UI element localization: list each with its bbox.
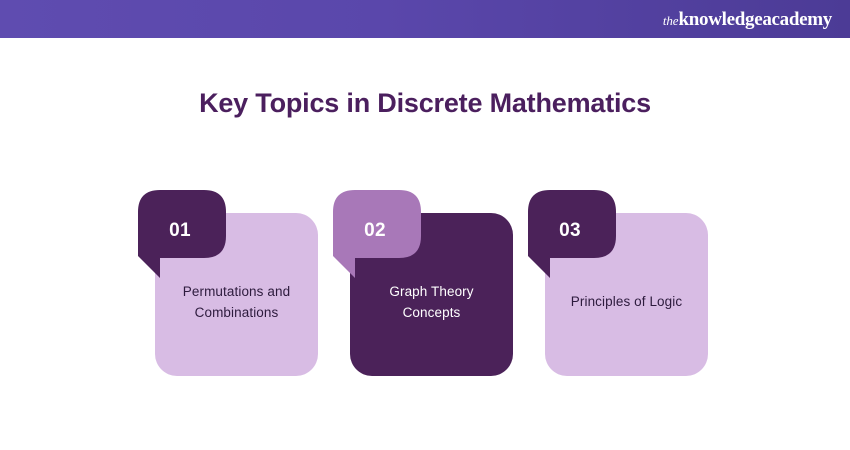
topic-card-1-label: Permutations and Combinations [169,282,304,324]
topic-card-3-number-badge: 03 [528,190,616,278]
topic-card-1[interactable]: Permutations and Combinations 01 [155,213,318,376]
topic-card-2[interactable]: Graph Theory Concepts 02 [350,213,513,376]
topic-card-3[interactable]: Principles of Logic 03 [545,213,708,376]
brand-logo-the: the [663,14,679,27]
topic-card-2-number-badge: 02 [333,190,421,278]
page-title: Key Topics in Discrete Mathematics [0,88,850,119]
brand-logo: theknowledgeacademy [663,10,832,29]
brand-logo-name: knowledgeacademy [678,10,832,29]
header-band: theknowledgeacademy [0,0,850,38]
topic-card-2-label: Graph Theory Concepts [364,282,499,324]
topic-cards-row: Permutations and Combinations 01 Graph T… [155,213,695,376]
topic-card-3-label: Principles of Logic [571,292,682,313]
topic-card-1-number-badge: 01 [138,190,226,278]
